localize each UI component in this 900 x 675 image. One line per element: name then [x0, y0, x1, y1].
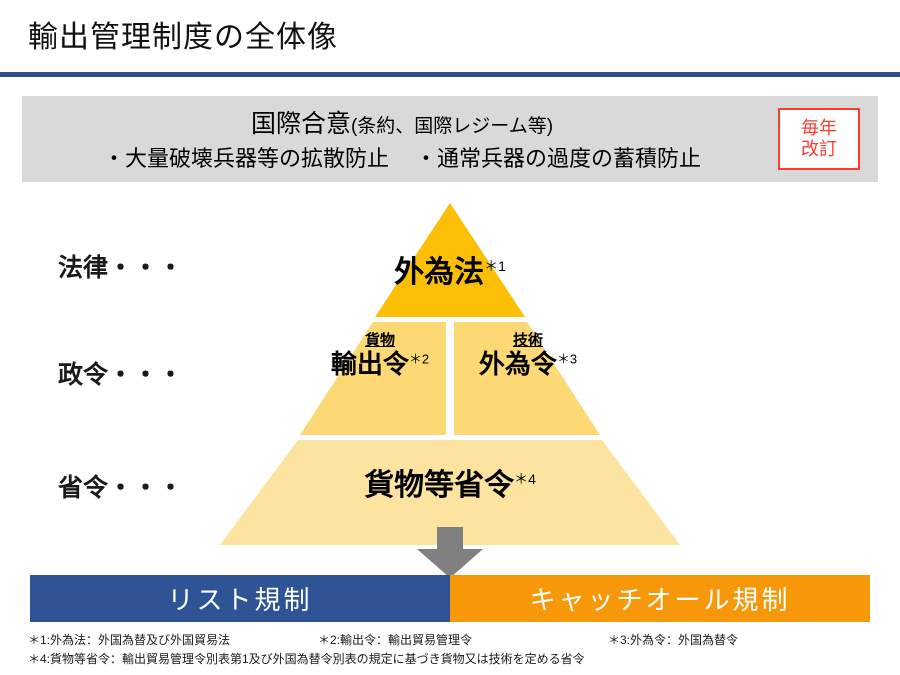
pyramid-apex-label-text: 外為法: [394, 256, 484, 289]
annual-revision-line-2: 改訂: [801, 139, 837, 160]
pyramid-middle-left-footnote-marker: ＊2: [409, 351, 429, 366]
footnote-row-2: ＊4:貨物等省令：輸出貿易管理令別表第1及び外国為替令別表の規定に基づき貨物又は…: [28, 650, 878, 669]
footnote-4: ＊4:貨物等省令：輸出貿易管理令別表第1及び外国為替令別表の規定に基づき貨物又は…: [28, 652, 585, 666]
pyramid-base-label-text: 貨物等省令: [364, 469, 514, 502]
footnote-2: ＊2:輸出令：輸出貿易管理令: [318, 631, 608, 650]
regulation-bar-catch-all-control-label: キャッチオール規制: [529, 580, 790, 617]
international-agreement-heading: 国際合意(条約、国際レジーム等): [22, 104, 782, 140]
regulation-bar-catch-all-control[interactable]: キャッチオール規制: [450, 575, 870, 622]
pyramid-apex-footnote-marker: ＊1: [484, 258, 506, 274]
pyramid-base-label: 貨物等省令＊4: [314, 460, 586, 504]
pyramid-base-footnote-marker: ＊4: [514, 471, 536, 487]
down-arrow-icon: [415, 527, 485, 579]
regulation-bar-list-control-label: リスト規制: [167, 580, 312, 617]
international-agreement-bullets: ・大量破壊兵器等の拡散防止・通常兵器の過度の蓄積防止: [22, 141, 782, 173]
annual-revision-line-1: 毎年: [801, 118, 837, 139]
pyramid-middle-right-kicker: 技術: [458, 333, 598, 350]
international-agreement-heading-main: 国際合意: [251, 110, 351, 138]
pyramid-apex-label: 外為法＊1: [370, 247, 530, 291]
international-agreement-banner: 国際合意(条約、国際レジーム等) ・大量破壊兵器等の拡散防止・通常兵器の過度の蓄…: [22, 96, 878, 182]
international-agreement-heading-sub: (条約、国際レジーム等): [351, 116, 553, 137]
regulation-bar-list-control[interactable]: リスト規制: [30, 575, 450, 622]
pyramid-middle-left-main: 輸出令＊2: [310, 350, 450, 380]
international-agreement-bullet-0: ・大量破壊兵器等の拡散防止: [103, 146, 389, 171]
pyramid-middle-left-label: 貨物 輸出令＊2: [310, 333, 450, 379]
export-control-pyramid: 外為法＊1 貨物 輸出令＊2 技術 外為令＊3 貨物等省令＊4: [140, 195, 760, 555]
pyramid-middle-right-footnote-marker: ＊3: [557, 351, 577, 366]
pyramid-middle-right-label-text: 外為令: [479, 349, 557, 379]
pyramid-middle-right-main: 外為令＊3: [458, 350, 598, 380]
pyramid-middle-left-kicker: 貨物: [310, 333, 450, 350]
footnote-3: ＊3:外為令：外国為替令: [608, 631, 738, 650]
pyramid-middle-left-label-text: 輸出令: [331, 349, 409, 379]
title-divider: [0, 72, 900, 77]
footnote-1: ＊1:外為法：外国為替及び外国貿易法: [28, 631, 318, 650]
page-title: 輸出管理制度の全体像: [28, 12, 338, 56]
footnotes: ＊1:外為法：外国為替及び外国貿易法＊2:輸出令：輸出貿易管理令＊3:外為令：外…: [28, 631, 878, 668]
footnote-row-1: ＊1:外為法：外国為替及び外国貿易法＊2:輸出令：輸出貿易管理令＊3:外為令：外…: [28, 631, 878, 650]
annual-revision-badge: 毎年 改訂: [778, 108, 860, 170]
pyramid-middle-right-label: 技術 外為令＊3: [458, 333, 598, 379]
international-agreement-bullet-1: ・通常兵器の過度の蓄積防止: [415, 146, 701, 171]
